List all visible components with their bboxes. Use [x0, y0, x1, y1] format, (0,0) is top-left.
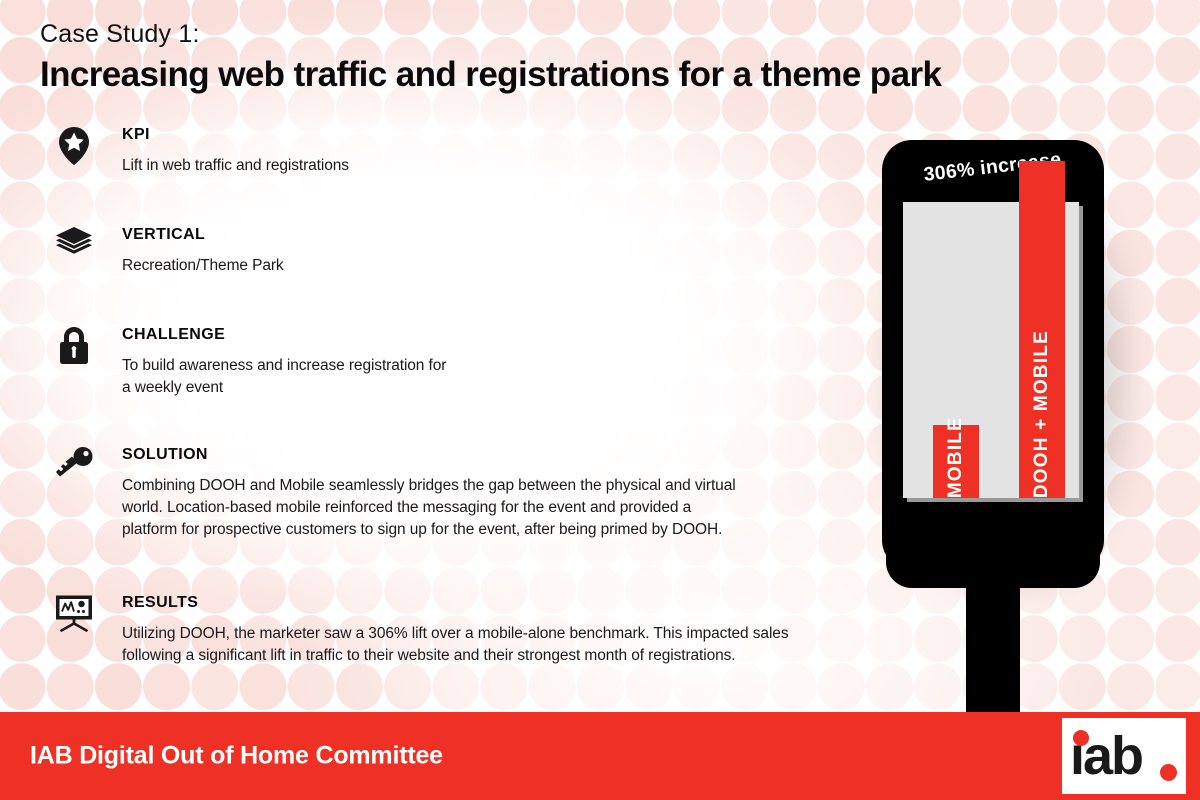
bar-label-dooh-mobile: DOOH + MOBILE [1031, 321, 1053, 498]
header-block: Case Study 1: Increasing web traffic and… [40, 20, 941, 96]
footer-bar: IAB Digital Out of Home Committee [0, 712, 1200, 800]
key-icon [53, 446, 95, 478]
lock-icon [58, 326, 90, 366]
key-icon [52, 446, 96, 490]
footer-title: IAB Digital Out of Home Committee [30, 742, 443, 771]
section-heading: VERTICAL [122, 226, 872, 244]
section-heading: SOLUTION [122, 446, 872, 464]
section-body: KPI Lift in web traffic and registration… [122, 126, 872, 177]
section-paragraph-line: Combining DOOH and Mobile seamlessly bri… [122, 475, 872, 497]
section-heading: RESULTS [122, 594, 872, 612]
iab-logo-i-dot-icon [1073, 730, 1089, 746]
section-paragraph-line: Lift in web traffic and registrations [122, 155, 872, 177]
map-pin-star-icon [52, 126, 96, 170]
slide-canvas: Case Study 1: Increasing web traffic and… [0, 0, 1200, 800]
section-paragraph-line: a weekly event [122, 377, 872, 399]
section-paragraph: To build awareness and increase registra… [122, 355, 872, 399]
iab-logo: iab [1062, 718, 1186, 794]
section-paragraph-line: platform for prospective customers to si… [122, 519, 872, 541]
section-heading: KPI [122, 126, 872, 144]
map-pin-star-icon [56, 126, 92, 166]
presentation-chart-icon [52, 594, 96, 638]
layers-icon [52, 226, 96, 270]
bar-label-mobile: MOBILE [945, 408, 967, 498]
lock-icon [52, 326, 96, 370]
billboard-chart: 306% increase MOBILE DOOH + MOBILE [868, 140, 1128, 715]
section-paragraph: Lift in web traffic and registrations [122, 155, 872, 177]
section-paragraph-line: Utilizing DOOH, the marketer saw a 306% … [122, 623, 872, 645]
presentation-chart-icon [53, 594, 95, 632]
layers-icon [54, 226, 94, 262]
section-body: RESULTSUtilizing DOOH, the marketer saw … [122, 594, 872, 667]
section-body: CHALLENGE To build awareness and increas… [122, 326, 872, 399]
section-body: SOLUTIONCombining DOOH and Mobile seamle… [122, 446, 872, 541]
iab-logo-period-icon [1160, 764, 1177, 781]
bar-mobile: MOBILE [933, 425, 979, 498]
section-paragraph-line: To build awareness and increase registra… [122, 355, 872, 377]
section-paragraph: Combining DOOH and Mobile seamlessly bri… [122, 475, 872, 541]
section-paragraph: Utilizing DOOH, the marketer saw a 306% … [122, 623, 872, 667]
section-paragraph-line: world. Location-based mobile reinforced … [122, 497, 872, 519]
section-paragraph-line: following a significant lift in traffic … [122, 645, 872, 667]
page-title: Increasing web traffic and registrations… [40, 54, 941, 97]
section-paragraph: Recreation/Theme Park [122, 255, 872, 277]
section-paragraph-line: Recreation/Theme Park [122, 255, 872, 277]
section-heading: CHALLENGE [122, 326, 872, 344]
section-body: VERTICALRecreation/Theme Park [122, 226, 872, 277]
case-study-eyebrow: Case Study 1: [40, 20, 941, 49]
bar-dooh-plus-mobile: DOOH + MOBILE [1019, 161, 1065, 498]
